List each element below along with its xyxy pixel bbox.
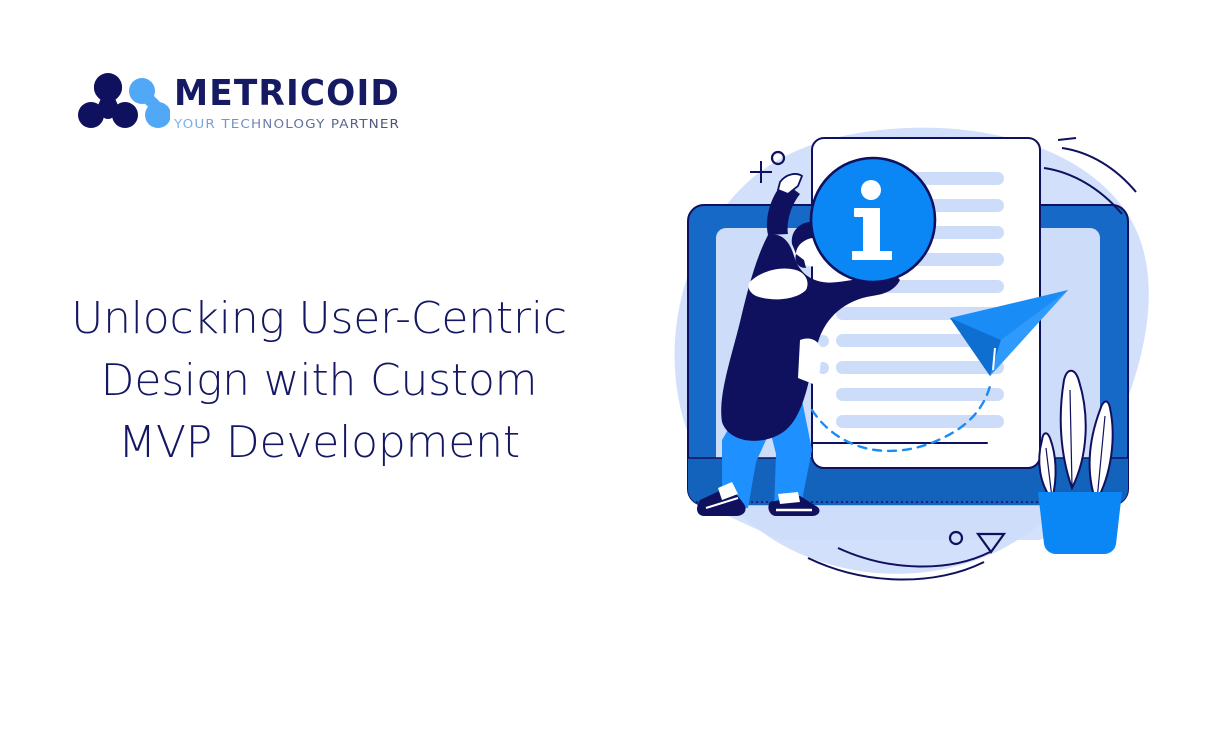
hero-slide: METRICOID YOUR TECHNOLOGY PARTNER Unlock…	[0, 0, 1227, 755]
brand-logo-text: METRICOID YOUR TECHNOLOGY PARTNER	[174, 74, 402, 131]
brand-tagline: YOUR TECHNOLOGY PARTNER	[174, 115, 402, 131]
info-icon[interactable]	[811, 158, 935, 282]
metricoid-molecule-logo-mark	[78, 68, 170, 136]
potted-plant-pot	[1038, 492, 1122, 554]
mvp-development-hero-illustration	[660, 110, 1180, 610]
svg-text:YOUR TECHNOLOGY PARTNER: YOUR TECHNOLOGY PARTNER	[174, 116, 400, 131]
brand-wordmark: METRICOID	[174, 74, 402, 112]
brand-logo[interactable]: METRICOID YOUR TECHNOLOGY PARTNER	[78, 68, 402, 136]
svg-text:METRICOID: METRICOID	[174, 74, 400, 112]
page-title: Unlocking User-Centric Design with Custo…	[60, 288, 578, 474]
